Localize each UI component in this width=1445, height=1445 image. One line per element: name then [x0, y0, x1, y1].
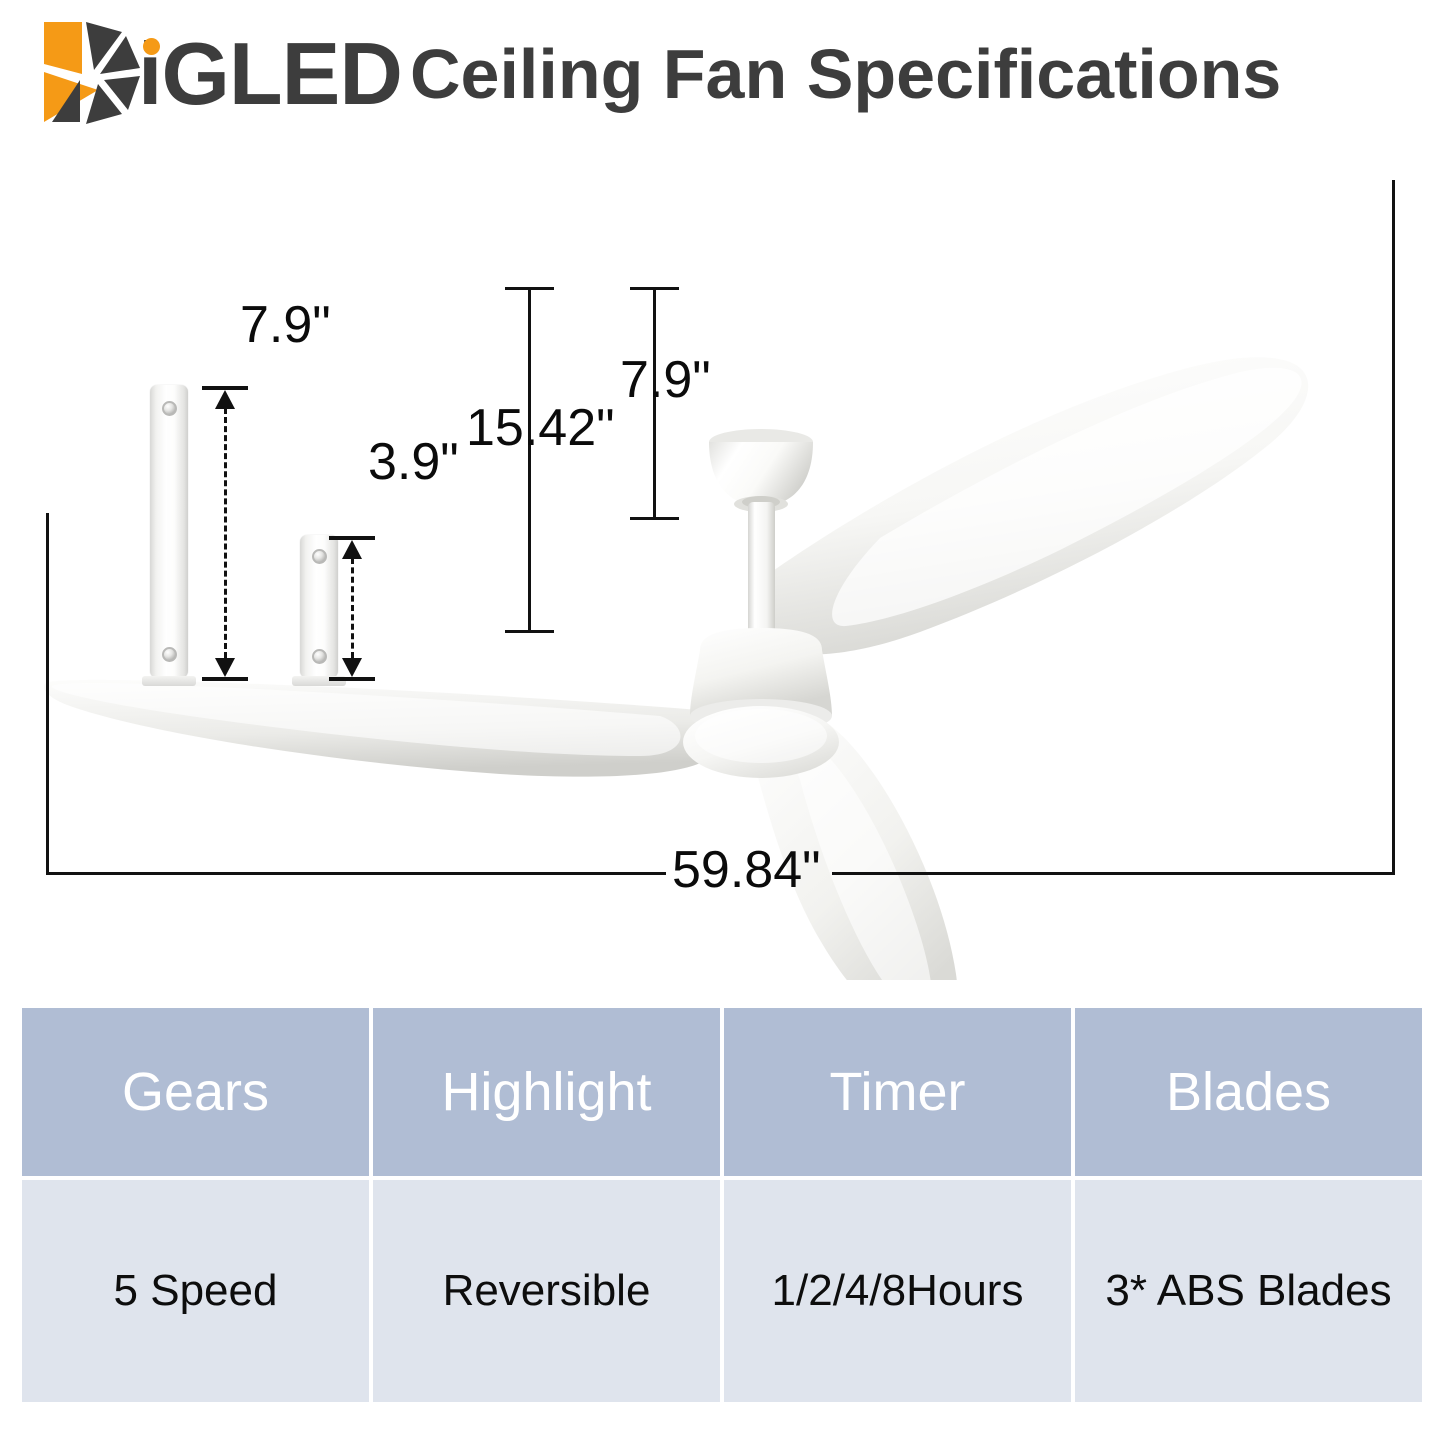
spec-column-highlight: Highlight Reversible [373, 1008, 720, 1402]
spec-value-gears: 5 Speed [22, 1180, 369, 1402]
downrod-long-base [142, 676, 196, 686]
spec-value-highlight: Reversible [373, 1180, 720, 1402]
downrod-screw-hole [312, 549, 327, 564]
page-header: iGLED Ceiling Fan Specifications [0, 0, 1445, 150]
spec-column-gears: Gears 5 Speed [22, 1008, 369, 1402]
downrod-screw-hole [162, 647, 177, 662]
span-extension-left [46, 513, 49, 875]
dim-arrow-up [215, 390, 235, 409]
dim-arrow-down [342, 658, 362, 677]
dim-label-downrod-long: 7.9" [240, 295, 331, 355]
dim-label-drop-height: 7.9" [620, 350, 711, 410]
brand-wordmark: iGLED [138, 26, 402, 122]
span-line-left [46, 872, 666, 875]
dim-arrow-up [342, 540, 362, 559]
brand-dot-icon [143, 38, 160, 55]
downrod-screw-hole [312, 649, 327, 664]
specification-table: Gears 5 Speed Highlight Reversible Timer… [22, 1008, 1422, 1402]
spec-column-blades: Blades 3* ABS Blades [1075, 1008, 1422, 1402]
page-title: Ceiling Fan Specifications [410, 26, 1281, 122]
span-extension-right [1392, 180, 1395, 875]
aperture-d-logo-icon [36, 18, 148, 128]
dim-label-blade-span: 59.84" [672, 840, 821, 900]
dim-cap-bottom [202, 677, 248, 681]
dim-cap-bottom [329, 677, 375, 681]
dim-line-downrod-short [351, 558, 354, 658]
dim-label-total-height: 15.42" [466, 398, 615, 458]
spec-header-timer: Timer [724, 1008, 1071, 1176]
downrod-long [150, 385, 188, 678]
dim-label-downrod-short: 3.9" [368, 432, 459, 492]
dim-arrow-down [215, 658, 235, 677]
downrod-screw-hole [162, 401, 177, 416]
span-line-right [832, 872, 1395, 875]
spec-value-timer: 1/2/4/8Hours [724, 1180, 1071, 1402]
dim-line-downrod-long [224, 408, 227, 658]
dim-line-total-height [528, 287, 531, 633]
spec-column-timer: Timer 1/2/4/8Hours [724, 1008, 1071, 1402]
spec-header-gears: Gears [22, 1008, 369, 1176]
spec-value-blades: 3* ABS Blades [1075, 1180, 1422, 1402]
brand-name-text: iGLED [138, 24, 402, 123]
downrod-short [300, 535, 338, 678]
ceiling-fan-dimension-diagram: 7.9" 3.9" 15.42" 7.9" 59.84" [0, 150, 1445, 980]
spec-header-highlight: Highlight [373, 1008, 720, 1176]
spec-header-blades: Blades [1075, 1008, 1422, 1176]
